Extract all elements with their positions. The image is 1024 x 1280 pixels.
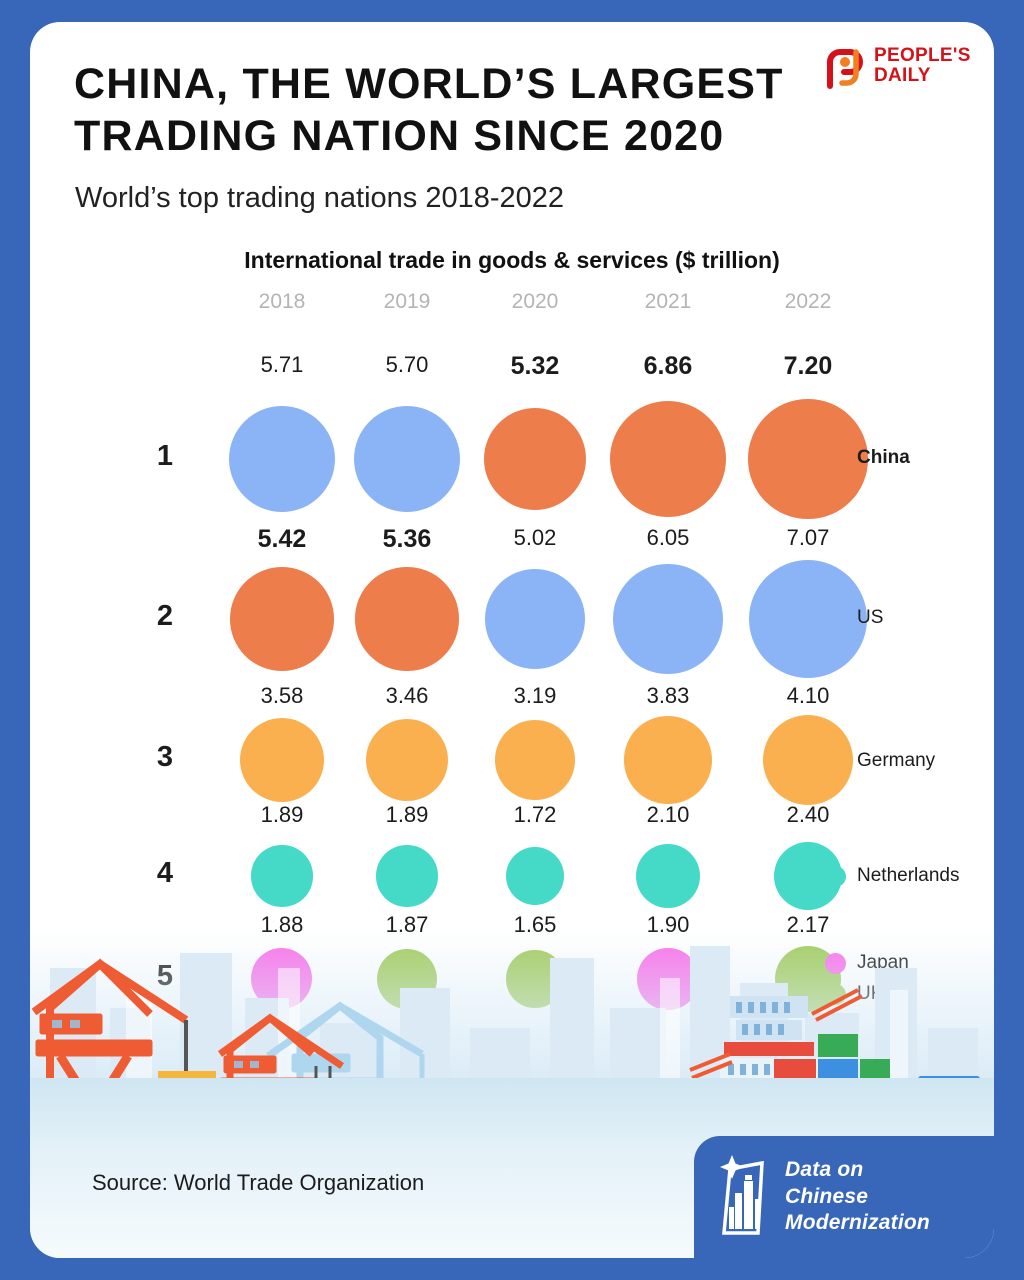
port-illustration: Source: World Trade Organization Data on… — [30, 928, 994, 1258]
bubble-netherlands-2018 — [251, 845, 312, 906]
badge-line-2: Chinese — [785, 1184, 930, 1211]
legend-item-netherlands[interactable]: Netherlands — [825, 865, 959, 887]
data-on-chinese-modernization-badge: Data on Chinese Modernization — [694, 1136, 994, 1258]
rank-label-3: 3 — [140, 741, 190, 774]
value-label-3-2018: 3.58 — [222, 683, 342, 709]
column-header-2021: 2021 — [608, 290, 728, 314]
bubble-us-2020 — [485, 569, 585, 669]
chart-title: International trade in goods & services … — [30, 247, 994, 274]
legend-item-china[interactable]: China — [825, 447, 910, 469]
legend-swatch-china — [825, 448, 846, 469]
value-label-3-2019: 3.46 — [347, 683, 467, 709]
brand-wordmark: PEOPLE'S DAILY — [874, 46, 971, 86]
bubble-germany-2019 — [366, 719, 449, 802]
value-label-4-2018: 1.89 — [222, 802, 342, 828]
value-label-1-2021: 6.86 — [608, 352, 728, 381]
value-label-2-2018: 5.42 — [222, 525, 342, 554]
bubble-netherlands-2021 — [636, 844, 700, 908]
bubble-china-2021 — [610, 401, 727, 518]
bubble-us-2021 — [613, 564, 722, 673]
legend-label-netherlands: Netherlands — [857, 865, 959, 887]
column-header-2020: 2020 — [475, 290, 595, 314]
brand-line-1: PEOPLE'S — [874, 46, 971, 66]
value-label-4-2022: 2.40 — [748, 802, 868, 828]
bubble-china-2019 — [355, 567, 458, 670]
value-label-1-2022: 7.20 — [748, 352, 868, 381]
column-header-2019: 2019 — [347, 290, 467, 314]
rank-label-2: 2 — [140, 600, 190, 633]
column-header-2018: 2018 — [222, 290, 342, 314]
value-label-1-2020: 5.32 — [475, 352, 595, 381]
bubble-netherlands-2019 — [376, 845, 437, 906]
value-label-3-2021: 3.83 — [608, 683, 728, 709]
rank-label-4: 4 — [140, 857, 190, 890]
legend-label-china: China — [857, 447, 910, 469]
bubble-us-2019 — [354, 406, 460, 512]
value-label-2-2022: 7.07 — [748, 525, 868, 551]
legend-label-us: US — [857, 607, 883, 629]
column-header-2022: 2022 — [748, 290, 868, 314]
legend-item-us[interactable]: US — [825, 607, 883, 629]
bubble-germany-2021 — [624, 716, 711, 803]
bubble-germany-2020 — [495, 720, 574, 799]
value-label-4-2020: 1.72 — [475, 802, 595, 828]
badge-line-1: Data on — [785, 1157, 930, 1184]
bubble-us-2018 — [229, 406, 335, 512]
rank-label-1: 1 — [140, 440, 190, 473]
badge-line-3: Modernization — [785, 1210, 930, 1237]
value-label-1-2018: 5.71 — [222, 352, 342, 378]
bubble-netherlands-2020 — [506, 847, 564, 905]
value-label-1-2019: 5.70 — [347, 352, 467, 378]
bubble-germany-2018 — [240, 718, 324, 802]
legend-swatch-us — [825, 608, 846, 629]
legend-label-germany: Germany — [857, 750, 935, 772]
source-note: Source: World Trade Organization — [92, 1170, 424, 1196]
value-label-2-2020: 5.02 — [475, 525, 595, 551]
value-label-3-2022: 4.10 — [748, 683, 868, 709]
skyline-sparkle-icon — [716, 1155, 772, 1239]
value-label-4-2019: 1.89 — [347, 802, 467, 828]
brand-line-2: DAILY — [874, 66, 971, 86]
legend-item-germany[interactable]: Germany — [825, 750, 935, 772]
value-label-4-2021: 2.10 — [608, 802, 728, 828]
page-subtitle: World’s top trading nations 2018-2022 — [75, 182, 564, 215]
legend-swatch-netherlands — [825, 866, 846, 887]
value-label-3-2020: 3.19 — [475, 683, 595, 709]
badge-text: Data on Chinese Modernization — [785, 1157, 930, 1238]
value-label-2-2021: 6.05 — [608, 525, 728, 551]
legend-swatch-germany — [825, 751, 846, 772]
bubble-china-2018 — [230, 567, 334, 671]
value-label-2-2019: 5.36 — [347, 525, 467, 554]
bubble-china-2020 — [484, 408, 587, 511]
page-title: CHINA, THE WORLD’S LARGEST TRADING NATIO… — [74, 58, 864, 163]
infographic-card: PEOPLE'S DAILY CHINA, THE WORLD’S LARGES… — [30, 22, 994, 1258]
